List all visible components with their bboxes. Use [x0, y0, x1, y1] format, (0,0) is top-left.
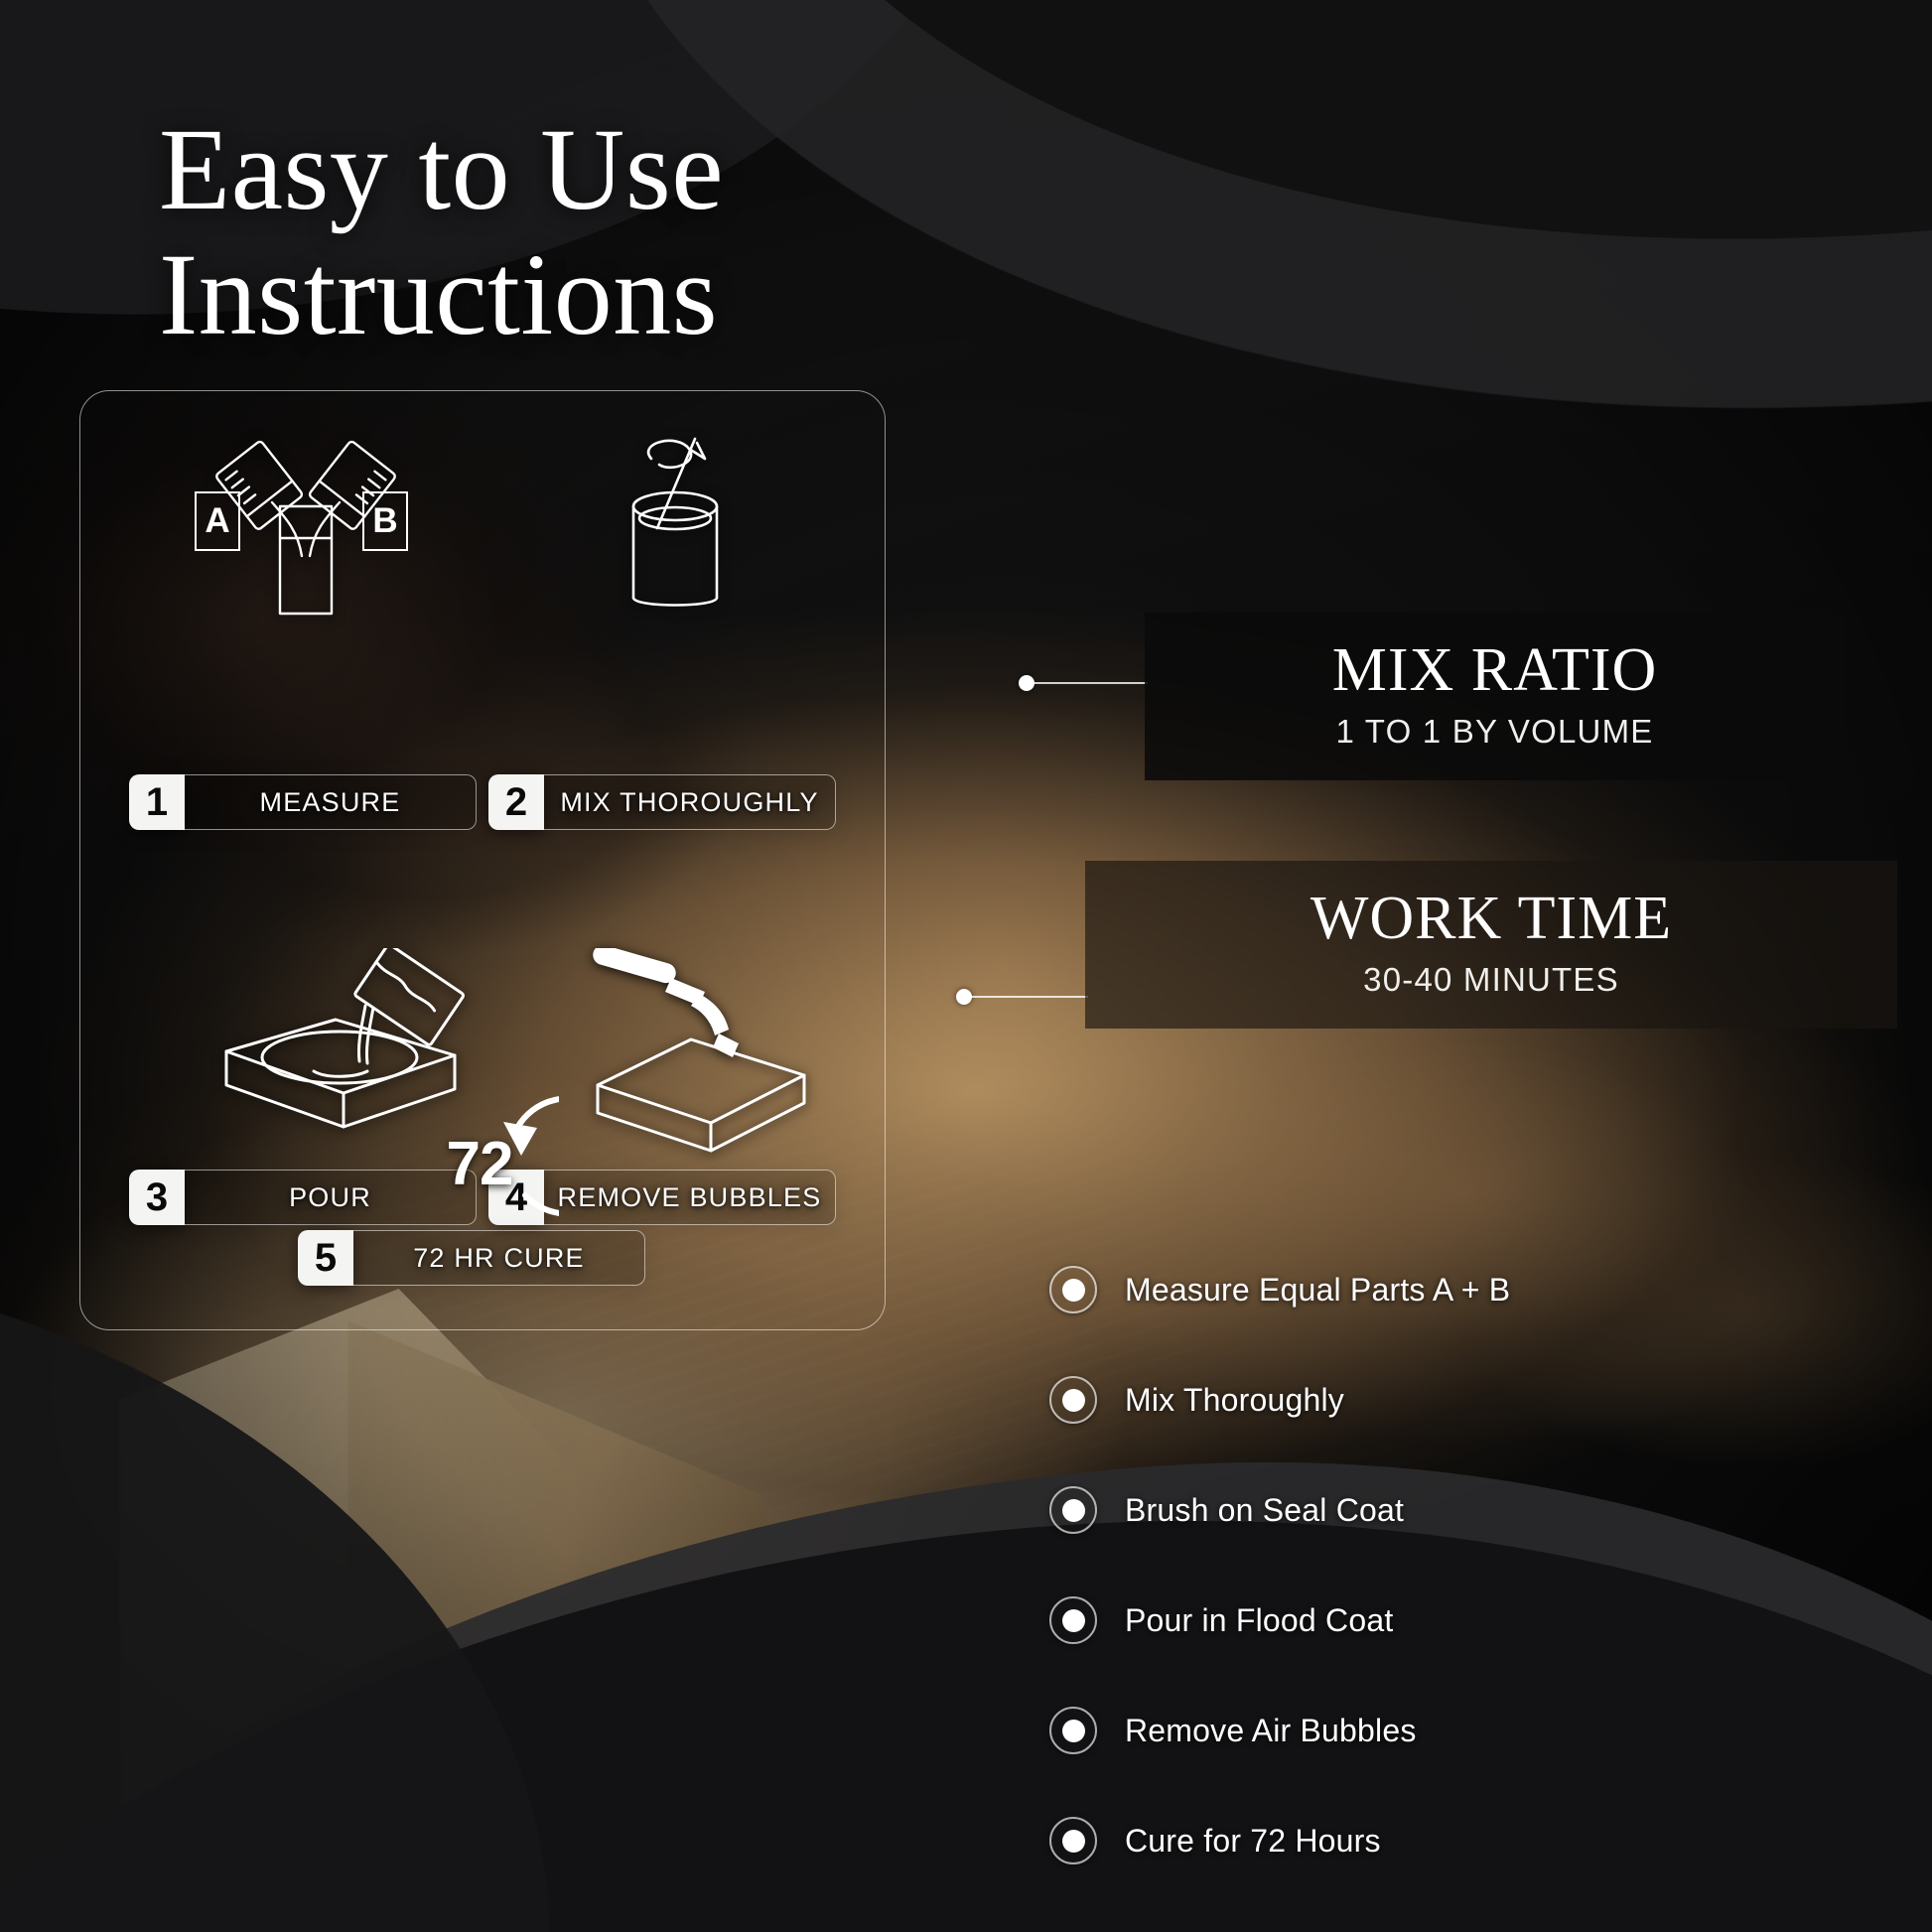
- list-item-label: Remove Air Bubbles: [1125, 1713, 1417, 1749]
- bullet-ring-icon: [1049, 1596, 1097, 1644]
- step-5-label: 72 HR CURE: [353, 1230, 645, 1286]
- bullet-ring-icon: [1049, 1266, 1097, 1313]
- list-item-label: Mix Thoroughly: [1125, 1382, 1344, 1419]
- step-1-number: 1: [129, 774, 185, 830]
- cure-hours-value: 72: [400, 1084, 559, 1243]
- step-2-label: MIX THOROUGHLY: [544, 774, 836, 830]
- bullet-ring-icon: [1049, 1707, 1097, 1754]
- work-time-callout: WORK TIME 30-40 MINUTES: [1085, 861, 1897, 1029]
- page-title: Easy to Use Instructions: [159, 107, 724, 358]
- bullet-ring-icon: [1049, 1376, 1097, 1424]
- list-spacer: [1049, 1317, 1510, 1372]
- step-3-number: 3: [129, 1170, 185, 1225]
- list-item: Remove Air Bubbles: [1049, 1703, 1510, 1758]
- list-item: Measure Equal Parts A + B: [1049, 1262, 1510, 1317]
- mix-ratio-callout: MIX RATIO 1 TO 1 BY VOLUME: [1145, 613, 1845, 780]
- step-1-bar: 1 MEASURE: [129, 774, 477, 830]
- list-item-label: Pour in Flood Coat: [1125, 1602, 1393, 1639]
- list-spacer: [1049, 1648, 1510, 1703]
- part-a-label: A: [205, 501, 229, 541]
- list-spacer: [1049, 1428, 1510, 1482]
- list-item-label: Measure Equal Parts A + B: [1125, 1272, 1510, 1309]
- list-item: Brush on Seal Coat: [1049, 1482, 1510, 1538]
- list-spacer: [1049, 1538, 1510, 1592]
- bullet-ring-icon: [1049, 1817, 1097, 1864]
- list-spacer: [1049, 1758, 1510, 1813]
- part-a-tag: A: [195, 491, 240, 551]
- mix-ratio-subtitle: 1 TO 1 BY VOLUME: [1188, 713, 1801, 751]
- step-4-label: REMOVE BUBBLES: [544, 1170, 836, 1225]
- stir-cup-icon: [586, 425, 764, 621]
- infographic-stage: Easy to Use Instructions: [0, 0, 1932, 1932]
- part-b-label: B: [372, 501, 397, 541]
- mix-ratio-leader-line: [1031, 682, 1148, 684]
- step-5-bar: 5 72 HR CURE: [298, 1230, 645, 1286]
- list-item-label: Brush on Seal Coat: [1125, 1492, 1404, 1529]
- work-time-title: WORK TIME: [1129, 887, 1854, 951]
- part-b-tag: B: [362, 491, 408, 551]
- work-time-subtitle: 30-40 MINUTES: [1129, 961, 1854, 999]
- checklist: Measure Equal Parts A + B Mix Thoroughly…: [1049, 1262, 1510, 1868]
- step-1-label: MEASURE: [185, 774, 477, 830]
- list-item-label: Cure for 72 Hours: [1125, 1823, 1381, 1860]
- torch-slab-icon: [588, 948, 836, 1162]
- step-2-number: 2: [488, 774, 544, 830]
- mix-ratio-title: MIX RATIO: [1188, 638, 1801, 703]
- list-item: Pour in Flood Coat: [1049, 1592, 1510, 1648]
- work-time-leader-line: [968, 996, 1088, 998]
- list-item: Cure for 72 Hours: [1049, 1813, 1510, 1868]
- step-2-bar: 2 MIX THOROUGHLY: [488, 774, 836, 830]
- step-5-number: 5: [298, 1230, 353, 1286]
- list-item: Mix Thoroughly: [1049, 1372, 1510, 1428]
- bullet-ring-icon: [1049, 1486, 1097, 1534]
